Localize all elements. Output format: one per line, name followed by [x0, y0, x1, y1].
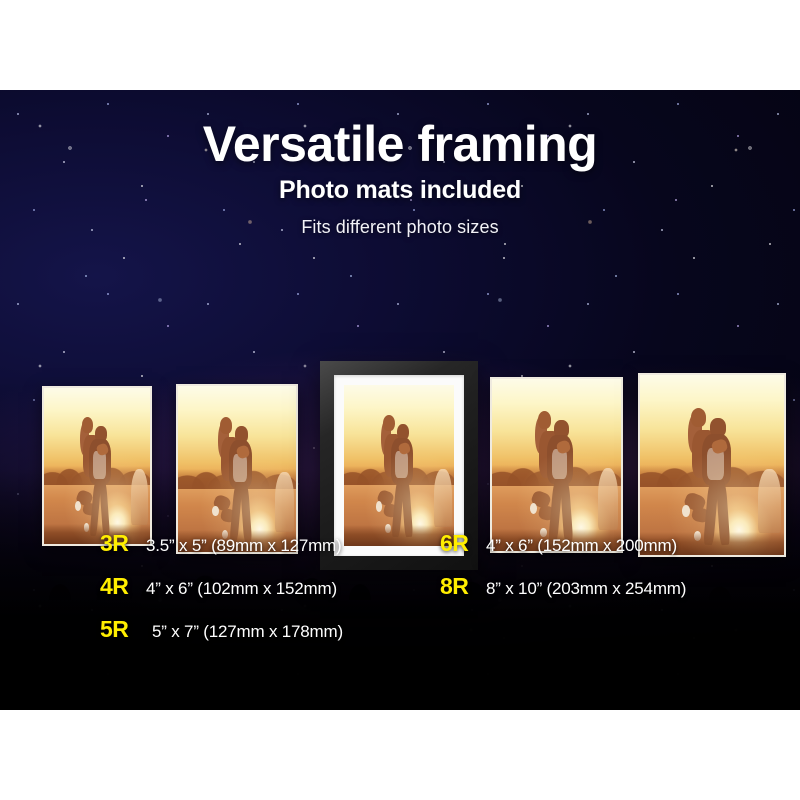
sun-haze	[640, 375, 784, 555]
sun-haze	[344, 385, 454, 546]
sunset-photo	[492, 379, 621, 551]
sunset-photo	[344, 385, 454, 546]
sun-haze	[178, 386, 296, 552]
sun-haze	[44, 388, 150, 544]
size-code-6r: 6R	[440, 530, 486, 557]
sunset-photo	[178, 386, 296, 552]
sunset-photo	[44, 388, 150, 544]
starry-night-banner: Versatile framing Photo mats included Fi…	[0, 90, 800, 710]
frame-3r[interactable]	[42, 386, 152, 546]
legend-column-right: 6R 4” x 6” (152mm x 200mm) 8R 8” x 10” (…	[0, 530, 440, 659]
white-photo-mat	[334, 375, 464, 556]
size-dims-6r: 4” x 6” (152mm x 200mm)	[486, 536, 677, 556]
sunset-photo	[640, 375, 784, 555]
sun-haze	[492, 379, 621, 551]
product-banner-page: Versatile framing Photo mats included Fi…	[0, 0, 800, 800]
photo-size-legend: 3R 3.5” x 5” (89mm x 127mm) 4R 4” x 6” (…	[0, 530, 800, 659]
size-code-8r: 8R	[440, 573, 486, 600]
size-dims-8r: 8” x 10” (203mm x 254mm)	[486, 579, 686, 599]
frame-6r[interactable]	[490, 377, 623, 553]
frame-4r[interactable]	[176, 384, 298, 554]
